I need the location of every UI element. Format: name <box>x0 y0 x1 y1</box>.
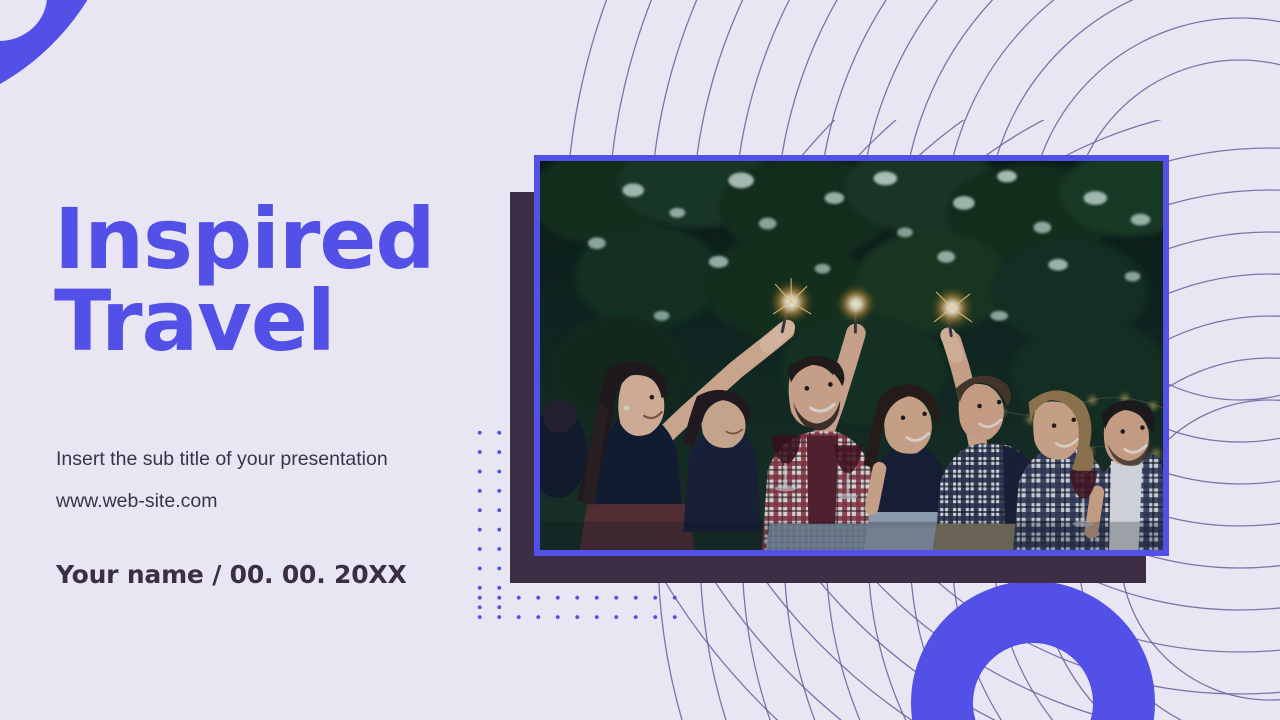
website-url: www.web-site.com <box>56 492 486 512</box>
dot-grid-icon <box>470 588 685 628</box>
byline-text: Your name / 00. 00. 20XX <box>56 562 516 587</box>
page-title: Inspired Travel <box>54 198 484 363</box>
donut-ring-icon <box>911 581 1155 720</box>
quarter-ring-icon <box>0 0 123 117</box>
presentation-slide: Inspired Travel Insert the sub title of … <box>0 0 1280 720</box>
hero-photo <box>534 155 1169 556</box>
subtitle-text: Insert the sub title of your presentatio… <box>56 450 486 470</box>
